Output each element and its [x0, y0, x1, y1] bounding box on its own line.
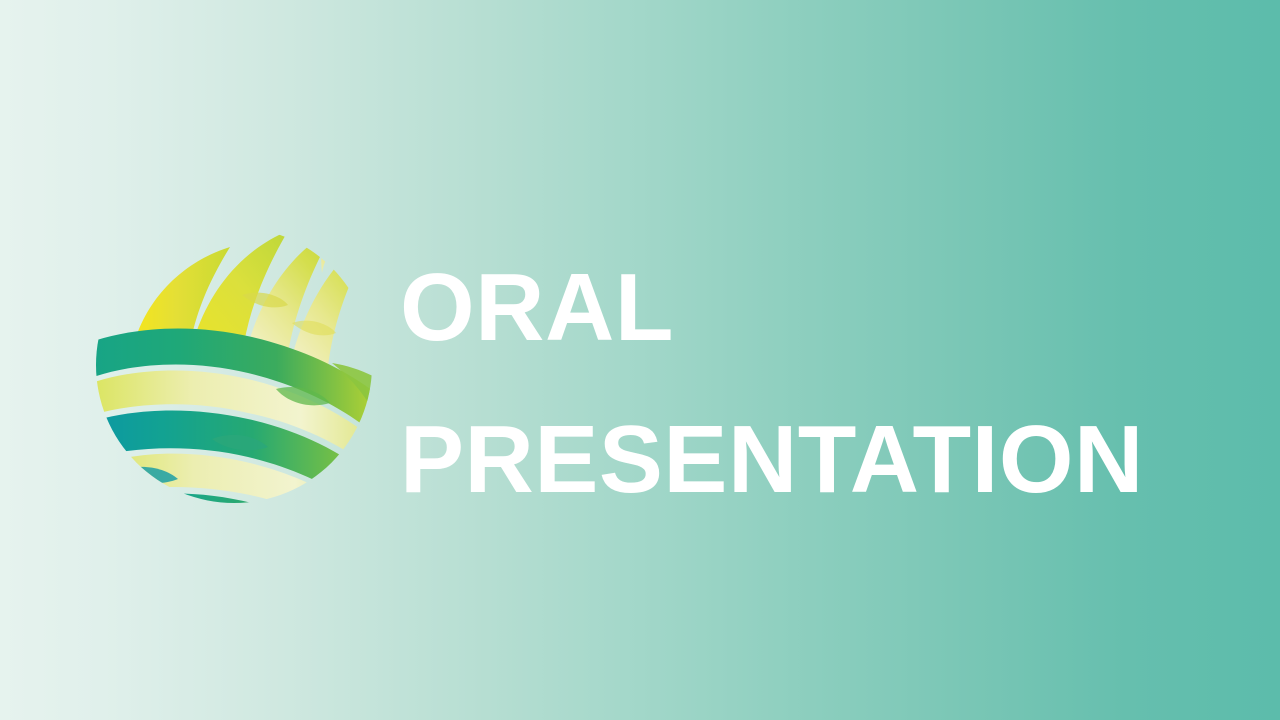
globe-ribbon-leaf-logo — [92, 203, 382, 523]
title-line-oral: ORAL — [400, 232, 1200, 384]
ribbon-band-cream-2 — [92, 454, 382, 523]
title-line-presentation: PRESENTATION — [400, 384, 1200, 536]
leaf-icon — [342, 244, 382, 272]
page-title: ORAL PRESENTATION — [400, 232, 1200, 536]
presentation-title-slide: ORAL PRESENTATION — [0, 0, 1280, 720]
ribbon-right-arc-2 — [340, 471, 382, 523]
ribbon-band-3 — [100, 493, 378, 523]
